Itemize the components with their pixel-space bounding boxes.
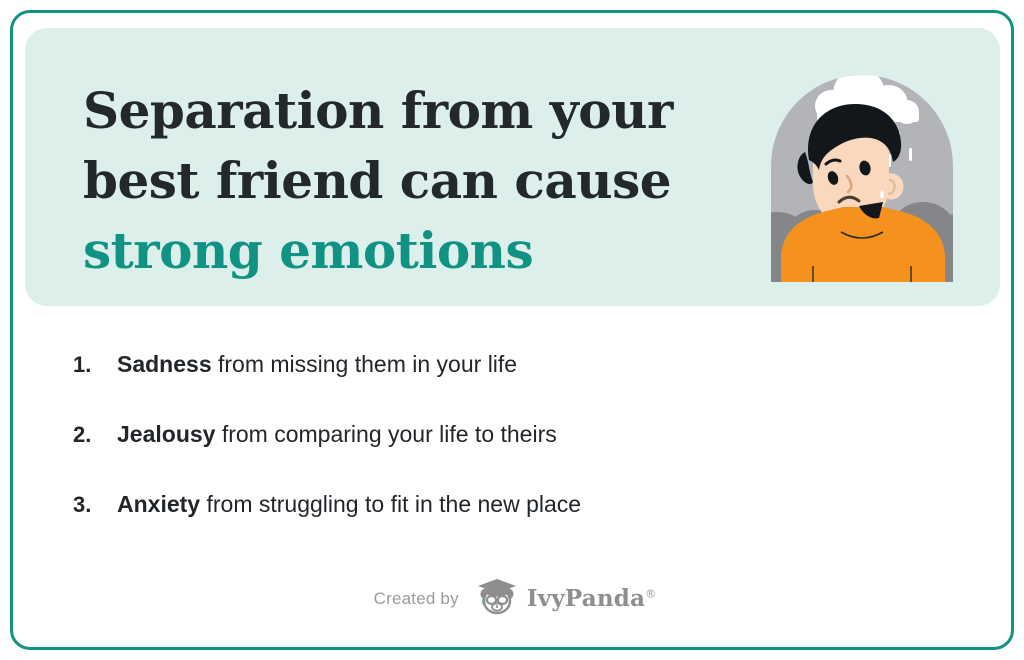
list-item: 1. Sadness from missing them in your lif… [73,351,953,421]
list-item-lead: Jealousy [117,421,215,447]
list-item-rest: from struggling to fit in the new place [200,491,581,517]
footer-created-by-label: Created by [374,589,459,609]
ivypanda-panda-graduate-logo-icon [475,576,519,621]
title-line-2: best friend can cause [83,146,683,216]
footer-credit: Created by [13,576,1017,621]
list-item-text: Sadness from missing them in your life [117,351,517,378]
list-item-text: Anxiety from struggling to fit in the ne… [117,491,581,518]
list-item-lead: Anxiety [117,491,200,517]
list-item-rest: from comparing your life to theirs [215,421,556,447]
list-item-number: 3. [73,492,117,518]
brand-name: IvyPanda [527,585,645,612]
list-item: 3. Anxiety from struggling to fit in the… [73,491,953,561]
list-item-number: 1. [73,352,117,378]
registered-mark: ® [645,587,656,600]
list-item-text: Jealousy from comparing your life to the… [117,421,557,448]
ivypanda-wordmark: IvyPanda® [527,585,657,612]
list-item-rest: from missing them in your life [212,351,517,377]
list-item-number: 2. [73,422,117,448]
emotions-list: 1. Sadness from missing them in your lif… [73,351,953,561]
list-item-lead: Sadness [117,351,212,377]
page-title: Separation from your best friend can cau… [83,76,683,286]
list-item: 2. Jealousy from comparing your life to … [73,421,953,491]
title-accent-line: strong emotions [83,216,683,286]
header-panel: Separation from your best friend can cau… [25,28,1000,306]
poster-card: Separation from your best friend can cau… [10,10,1014,650]
title-line-1: Separation from your [83,76,683,146]
illustration-sad-person [747,56,977,282]
